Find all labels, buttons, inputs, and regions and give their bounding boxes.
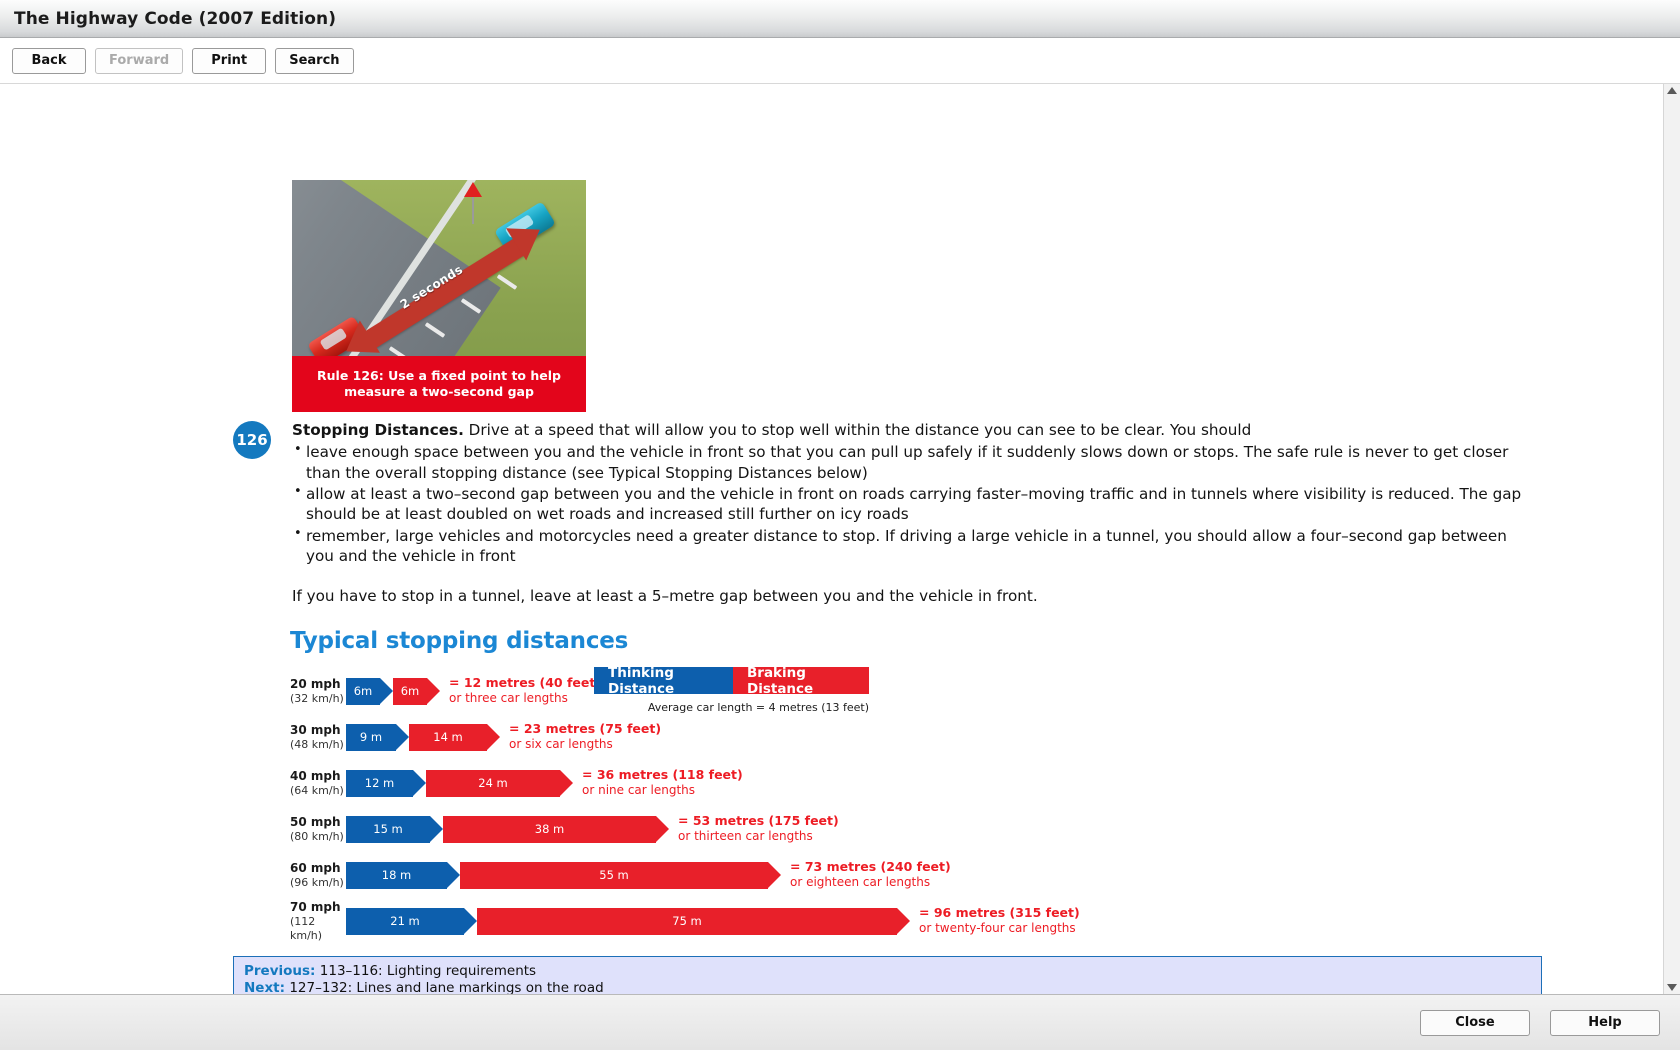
- speed-mph: 20 mph: [290, 677, 346, 692]
- braking-distance-bar: 6m: [393, 678, 427, 705]
- car-lengths-value: or eighteen car lengths: [790, 875, 951, 891]
- previous-link[interactable]: Previous: 113–116: Lighting requirements: [244, 963, 1531, 980]
- thinking-distance-value: 18 m: [382, 868, 412, 882]
- close-button[interactable]: Close: [1420, 1010, 1530, 1036]
- speed-kmh: (48 km/h): [290, 738, 346, 752]
- braking-distance-bar: 24 m: [426, 770, 560, 797]
- speed-kmh: (80 km/h): [290, 830, 346, 844]
- rule-bullet-list: leave enough space between you and the v…: [292, 442, 1534, 566]
- speed-mph: 60 mph: [290, 861, 346, 876]
- legend-braking-distance: Braking Distance: [733, 667, 869, 694]
- scroll-down-arrow-icon[interactable]: [1667, 984, 1677, 991]
- braking-distance-value: 24 m: [478, 776, 508, 790]
- print-button[interactable]: Print: [192, 48, 266, 74]
- window-title: The Highway Code (2007 Edition): [14, 9, 336, 29]
- speed-kmh: (32 km/h): [290, 692, 346, 706]
- previous-value: 113–116: Lighting requirements: [320, 963, 536, 979]
- thinking-distance-value: 9 m: [360, 730, 382, 744]
- next-label: Next:: [244, 980, 285, 994]
- car-lengths-value: or thirteen car lengths: [678, 829, 839, 845]
- total-distance-value: = 23 metres (75 feet): [509, 721, 661, 737]
- content-area: 2 seconds Rule 126: Use a fixed point to…: [0, 84, 1680, 994]
- thinking-distance-value: 21 m: [390, 914, 420, 928]
- distance-bars: 21 m75 m: [346, 908, 897, 935]
- speed-mph: 30 mph: [290, 723, 346, 738]
- forward-button: Forward: [95, 48, 183, 74]
- total-distance-value: = 73 metres (240 feet): [790, 859, 951, 875]
- search-button[interactable]: Search: [275, 48, 353, 74]
- total-distance-label: = 36 metres (118 feet)or nine car length…: [582, 767, 743, 799]
- total-distance-label: = 73 metres (240 feet)or eighteen car le…: [790, 859, 951, 891]
- distance-bars: 6m6m: [346, 678, 427, 705]
- caption-line-1: Rule 126: Use a fixed point to help: [317, 368, 561, 383]
- thinking-distance-bar: 9 m: [346, 724, 396, 751]
- chart-legend: Thinking Distance Braking Distance: [594, 667, 869, 694]
- speed-kmh: (96 km/h): [290, 876, 346, 890]
- total-distance-value: = 12 metres (40 feet): [449, 675, 601, 691]
- distance-bars: 9 m14 m: [346, 724, 487, 751]
- car-lengths-value: or six car lengths: [509, 737, 661, 753]
- speed-mph: 50 mph: [290, 815, 346, 830]
- thinking-distance-value: 12 m: [365, 776, 395, 790]
- caption-line-2: measure a two-second gap: [344, 384, 534, 399]
- speed-label: 60 mph(96 km/h): [290, 861, 346, 890]
- speed-label: 50 mph(80 km/h): [290, 815, 346, 844]
- list-item: remember, large vehicles and motorcycles…: [292, 526, 1534, 567]
- speed-kmh: (112 km/h): [290, 915, 346, 943]
- window-titlebar: The Highway Code (2007 Edition): [0, 0, 1680, 38]
- total-distance-label: = 96 metres (315 feet)or twenty-four car…: [919, 905, 1080, 937]
- speed-label: 20 mph(32 km/h): [290, 677, 346, 706]
- thinking-distance-value: 6m: [354, 684, 373, 698]
- vertical-scrollbar[interactable]: [1663, 84, 1680, 994]
- warning-sign-icon: [464, 182, 482, 197]
- braking-distance-bar: 14 m: [409, 724, 487, 751]
- thinking-distance-bar: 15 m: [346, 816, 430, 843]
- speed-label: 30 mph(48 km/h): [290, 723, 346, 752]
- back-button[interactable]: Back: [12, 48, 86, 74]
- document-page: 2 seconds Rule 126: Use a fixed point to…: [0, 84, 1663, 994]
- total-distance-value: = 96 metres (315 feet): [919, 905, 1080, 921]
- braking-distance-value: 6m: [401, 684, 420, 698]
- chart-note: Average car length = 4 metres (13 feet): [594, 701, 869, 714]
- distance-bars: 18 m55 m: [346, 862, 768, 889]
- rule-number-badge: 126: [233, 421, 271, 459]
- help-button[interactable]: Help: [1550, 1010, 1660, 1036]
- speed-label: 40 mph(64 km/h): [290, 769, 346, 798]
- table-row: 40 mph(64 km/h)12 m24 m= 36 metres (118 …: [290, 760, 890, 806]
- chart-title: Typical stopping distances: [290, 628, 890, 654]
- next-value: 127–132: Lines and lane markings on the …: [289, 980, 603, 994]
- rule-lead-paragraph: Stopping Distances. Drive at a speed tha…: [292, 420, 1534, 440]
- next-link[interactable]: Next: 127–132: Lines and lane markings o…: [244, 980, 1531, 994]
- distance-bars: 12 m24 m: [346, 770, 560, 797]
- scroll-up-arrow-icon[interactable]: [1667, 87, 1677, 94]
- thinking-distance-bar: 6m: [346, 678, 380, 705]
- braking-distance-value: 75 m: [672, 914, 702, 928]
- thinking-distance-value: 15 m: [373, 822, 403, 836]
- thinking-distance-bar: 21 m: [346, 908, 464, 935]
- braking-distance-bar: 38 m: [443, 816, 656, 843]
- car-lengths-value: or twenty-four car lengths: [919, 921, 1080, 937]
- table-row: 50 mph(80 km/h)15 m38 m= 53 metres (175 …: [290, 806, 890, 852]
- speed-mph: 70 mph: [290, 900, 346, 915]
- bottom-button-bar: Close Help: [0, 994, 1680, 1050]
- total-distance-label: = 23 metres (75 feet)or six car lengths: [509, 721, 661, 753]
- braking-distance-value: 38 m: [535, 822, 565, 836]
- speed-mph: 40 mph: [290, 769, 346, 784]
- car-lengths-value: or three car lengths: [449, 691, 601, 707]
- rule-lead-text: Drive at a speed that will allow you to …: [464, 421, 1251, 439]
- speed-kmh: (64 km/h): [290, 784, 346, 798]
- table-row: 60 mph(96 km/h)18 m55 m= 73 metres (240 …: [290, 852, 890, 898]
- thinking-distance-bar: 12 m: [346, 770, 413, 797]
- toolbar: Back Forward Print Search: [0, 38, 1680, 84]
- illustration-caption: Rule 126: Use a fixed point to help meas…: [292, 356, 586, 412]
- car-lengths-value: or nine car lengths: [582, 783, 743, 799]
- speed-label: 70 mph(112 km/h): [290, 900, 346, 943]
- previous-label: Previous:: [244, 963, 315, 979]
- page-navigation: Previous: 113–116: Lighting requirements…: [233, 956, 1542, 994]
- rule-body-text: Stopping Distances. Drive at a speed tha…: [292, 420, 1534, 606]
- legend-thinking-distance: Thinking Distance: [594, 667, 733, 694]
- thinking-distance-bar: 18 m: [346, 862, 447, 889]
- total-distance-value: = 53 metres (175 feet): [678, 813, 839, 829]
- total-distance-value: = 36 metres (118 feet): [582, 767, 743, 783]
- rule-heading: Stopping Distances.: [292, 421, 464, 439]
- rule-illustration: 2 seconds Rule 126: Use a fixed point to…: [292, 180, 586, 412]
- total-distance-label: = 12 metres (40 feet)or three car length…: [449, 675, 601, 707]
- table-row: 30 mph(48 km/h)9 m14 m= 23 metres (75 fe…: [290, 714, 890, 760]
- total-distance-label: = 53 metres (175 feet)or thirteen car le…: [678, 813, 839, 845]
- rule-tail-paragraph: If you have to stop in a tunnel, leave a…: [292, 586, 1534, 606]
- list-item: leave enough space between you and the v…: [292, 442, 1534, 483]
- braking-distance-bar: 55 m: [460, 862, 768, 889]
- highway-code-window: The Highway Code (2007 Edition) Back For…: [0, 0, 1680, 1050]
- distance-bars: 15 m38 m: [346, 816, 656, 843]
- braking-distance-value: 55 m: [599, 868, 629, 882]
- list-item: allow at least a two–second gap between …: [292, 484, 1534, 525]
- table-row: 70 mph(112 km/h)21 m75 m= 96 metres (315…: [290, 898, 890, 944]
- braking-distance-bar: 75 m: [477, 908, 897, 935]
- braking-distance-value: 14 m: [433, 730, 463, 744]
